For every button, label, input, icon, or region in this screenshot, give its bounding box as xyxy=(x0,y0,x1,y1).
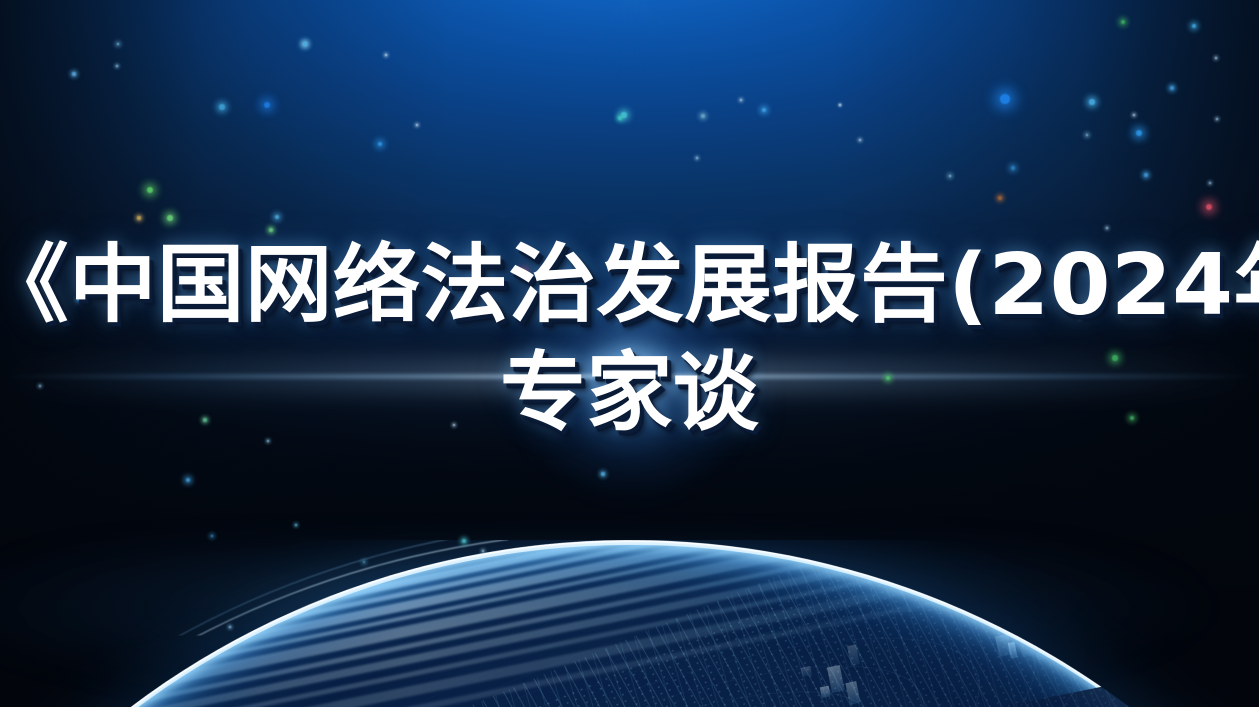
green-accent-marker xyxy=(659,566,692,583)
lens-flare-streak xyxy=(0,375,1259,378)
poster-canvas: 《中国网络法治发展报告(2024年)》 专家谈 xyxy=(0,0,1259,707)
